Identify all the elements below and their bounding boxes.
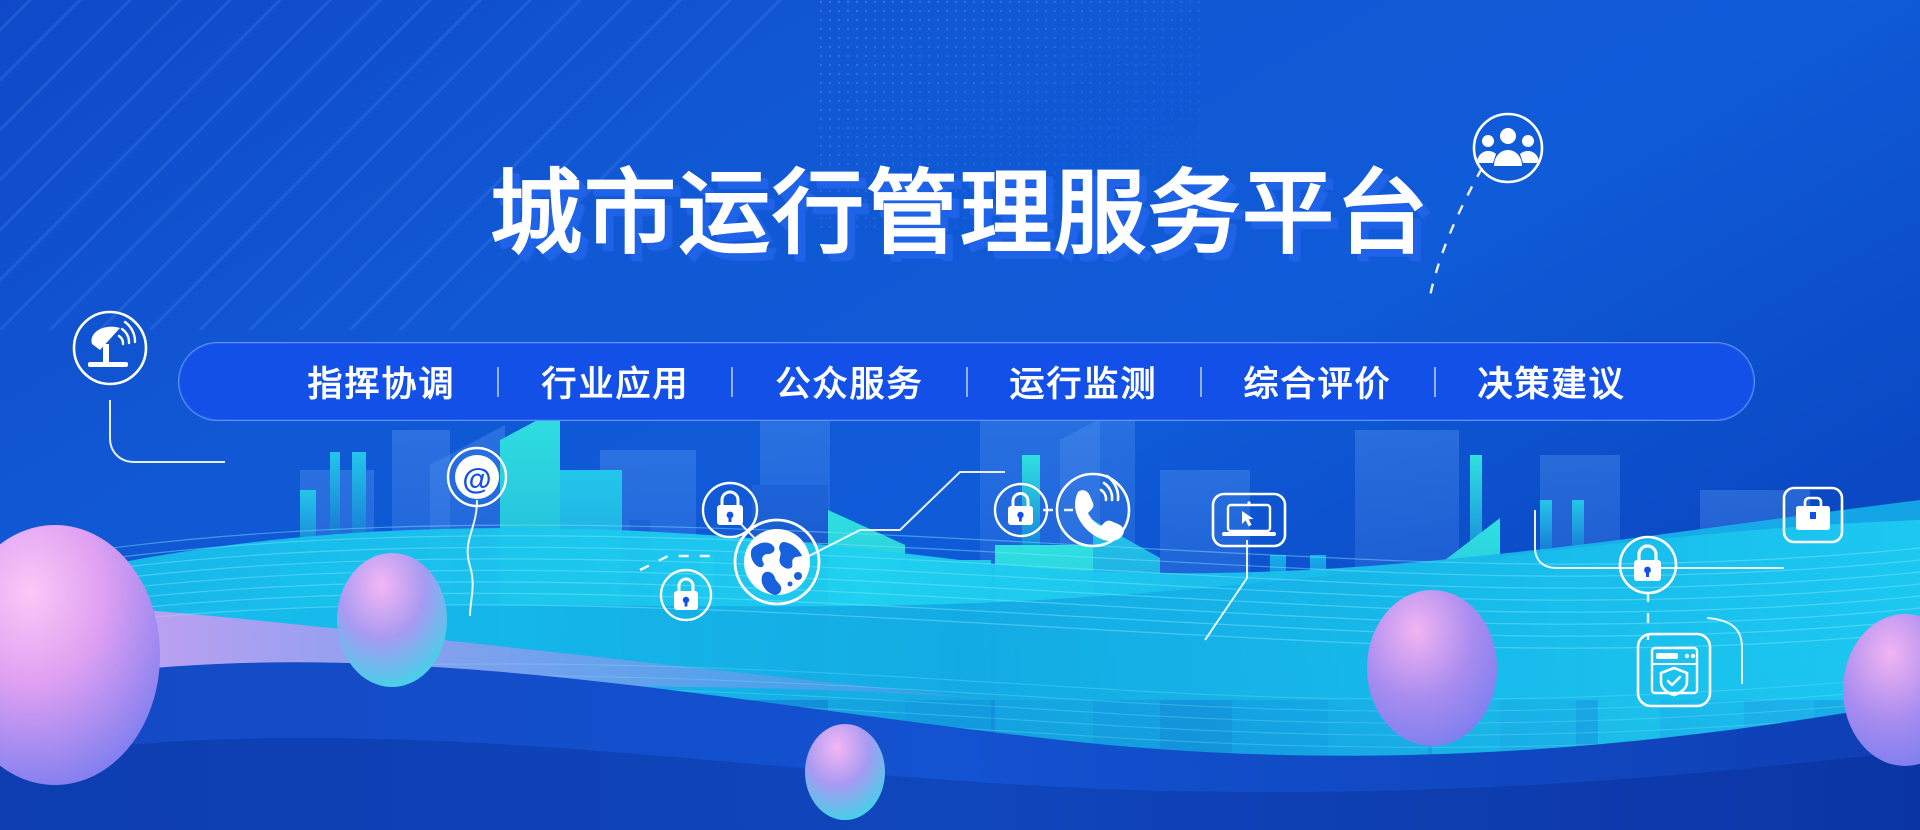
at-sign-icon: @ [448, 448, 506, 506]
connector-lock-globe-dashed [640, 556, 718, 570]
page-title: 城市运行管理服务平台 [0, 168, 1920, 260]
connector-shield-browser [1707, 618, 1742, 684]
nav-item-3[interactable]: 公众服务 [733, 356, 965, 407]
svg-text:@: @ [462, 463, 491, 496]
briefcase-icon [1784, 488, 1842, 542]
browser-shield-icon [1638, 634, 1710, 706]
nav-item-6[interactable]: 决策建议 [1436, 356, 1668, 407]
lock-icon-globe-upper [703, 483, 757, 537]
laptop-cursor-icon [1213, 494, 1285, 546]
connector-globe-right [805, 472, 1005, 558]
nav-item-4[interactable]: 运行监测 [968, 356, 1200, 407]
nav-item-list: 指挥协调行业应用公众服务运行监测综合评价决策建议 [265, 356, 1667, 407]
connector-at [468, 500, 477, 616]
lock-icon-browser [1620, 537, 1676, 593]
globe-icon [735, 520, 819, 604]
nav-item-2[interactable]: 行业应用 [499, 356, 731, 407]
nav-item-5[interactable]: 综合评价 [1202, 356, 1434, 407]
connector-laptop [1205, 540, 1247, 640]
lock-icon-phone [995, 484, 1047, 536]
city-platform-banner: @ [0, 0, 1920, 830]
satellite-dish-icon [74, 312, 146, 384]
nav-item-1[interactable]: 指挥协调 [265, 356, 497, 407]
main-nav-bar: 指挥协调行业应用公众服务运行监测综合评价决策建议 [178, 342, 1755, 421]
lock-icon-lower-left [661, 570, 711, 620]
